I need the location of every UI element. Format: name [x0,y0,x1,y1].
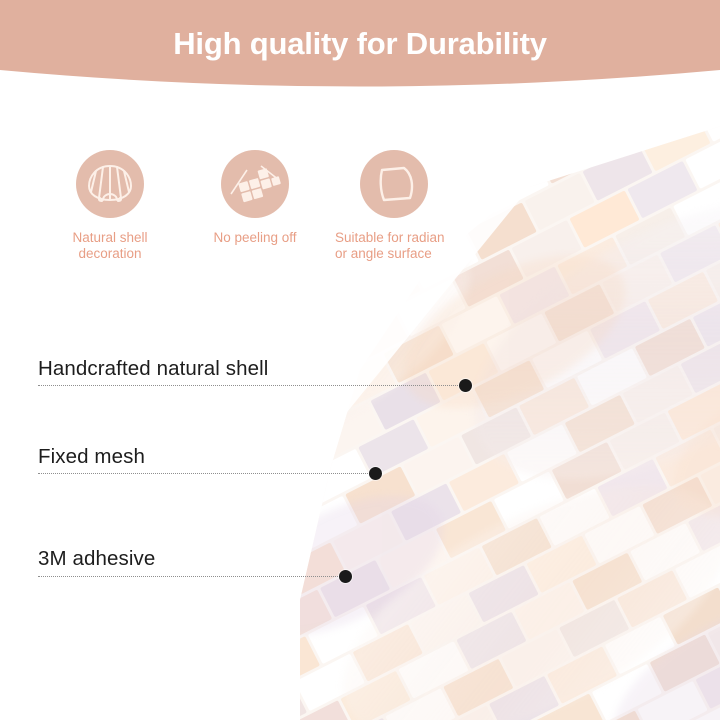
callout-leader-line [38,385,466,386]
layer-marker-dot-adhesive [339,570,352,583]
callout-handcrafted-natural-shell: Handcrafted natural shell [38,357,268,381]
callout-label: Handcrafted natural shell [38,357,268,381]
product-infographic: High quality for Durability [0,0,720,720]
callout-leader-line [38,576,346,577]
callout-label: 3M adhesive [38,547,155,571]
layer-marker-dot-shell [459,379,472,392]
page-title: High quality for Durability [0,26,720,62]
callout-3m-adhesive: 3M adhesive [38,547,155,571]
callout-list: Handcrafted natural shell Fixed mesh 3M … [0,0,720,720]
callout-label: Fixed mesh [38,445,145,469]
callout-leader-line [38,473,376,474]
layer-marker-dot-mesh [369,467,382,480]
header-banner: High quality for Durability [0,0,720,100]
callout-fixed-mesh: Fixed mesh [38,445,145,469]
